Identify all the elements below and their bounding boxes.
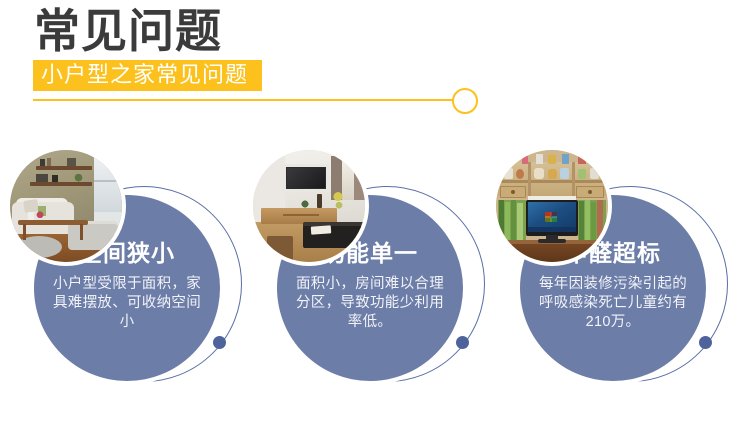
- header-divider-line: [33, 99, 458, 101]
- subtitle-banner: 小户型之家常见问题: [33, 60, 262, 91]
- tv-room-photo: [253, 150, 365, 262]
- subtitle-text: 小户型之家常见问题: [41, 64, 248, 86]
- page-header: 常见问题 小户型之家常见问题: [0, 0, 750, 130]
- feature-card[interactable]: 空间狭小 小户型受限于面积，家具难摆放、可收纳空间小: [0, 140, 250, 439]
- page-title: 常见问题: [34, 5, 222, 57]
- desk-computer-photo: [496, 150, 608, 262]
- feature-card[interactable]: 甲醛超标 每年因装修污染引起的呼吸感染死亡儿童约有210万。: [486, 140, 736, 439]
- card-body: 面积小，房间难以合理分区，导致功能少利用率低。: [295, 275, 445, 332]
- feature-card-list: 空间狭小 小户型受限于面积，家具难摆放、可收纳空间小: [0, 140, 750, 439]
- page-root: 常见问题 小户型之家常见问题 空间狭小 小户型受限于面积，家具难摆放、可收纳空间…: [0, 0, 750, 439]
- card-body: 每年因装修污染引起的呼吸感染死亡儿童约有210万。: [538, 275, 688, 332]
- card-body: 小户型受限于面积，家具难摆放、可收纳空间小: [52, 275, 202, 332]
- feature-card[interactable]: 功能单一 面积小，房间难以合理分区，导致功能少利用率低。: [243, 140, 493, 439]
- circle-outline-icon: [452, 88, 478, 114]
- living-room-photo: [10, 150, 122, 262]
